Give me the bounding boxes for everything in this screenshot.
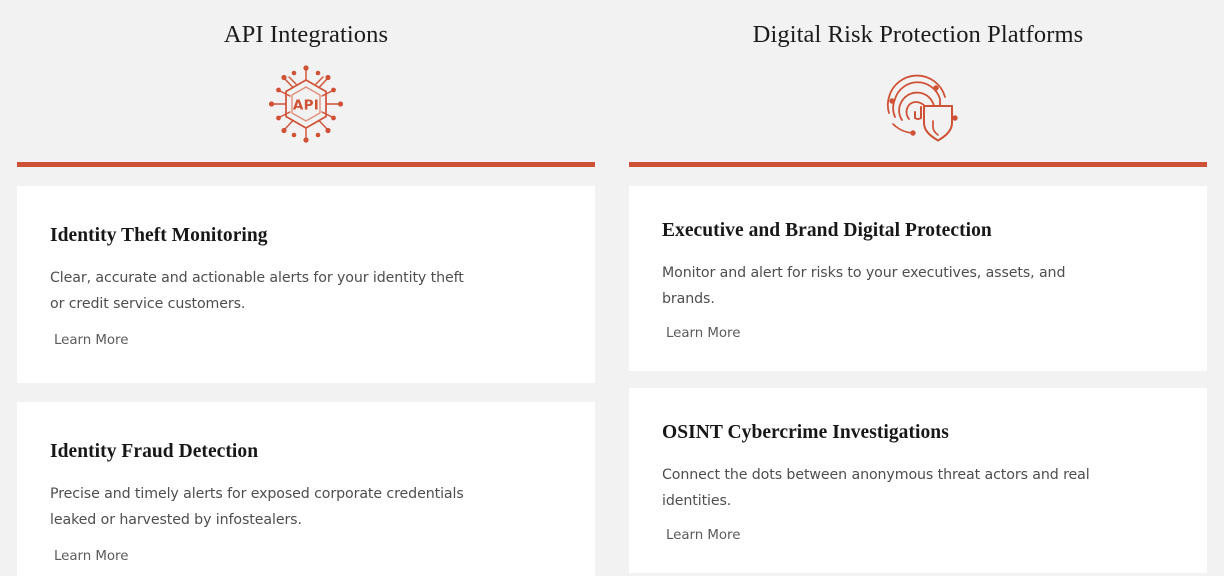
card-list-digital-risk-protection: Executive and Brand Digital Protection M… — [612, 186, 1224, 573]
column-header-api-integrations: API Integrations — [0, 0, 612, 145]
card-list-api-integrations: Identity Theft Monitoring Clear, accurat… — [0, 186, 612, 576]
service-card[interactable]: Identity Fraud Detection Precise and tim… — [17, 402, 595, 576]
column-accent-rule-wrap — [612, 162, 1224, 167]
card-description: Precise and timely alerts for exposed co… — [50, 481, 470, 534]
api-hexagon-network-icon: API — [0, 63, 612, 145]
column-title: Digital Risk Protection Platforms — [612, 20, 1224, 49]
service-card[interactable]: OSINT Cybercrime Investigations Connect … — [629, 388, 1207, 573]
learn-more-link[interactable]: Learn More — [54, 549, 128, 564]
card-description: Monitor and alert for risks to your exec… — [662, 260, 1112, 313]
service-card[interactable]: Identity Theft Monitoring Clear, accurat… — [17, 186, 595, 383]
fingerprint-shield-icon — [612, 63, 1224, 145]
accent-rule — [629, 162, 1207, 167]
service-card[interactable]: Executive and Brand Digital Protection M… — [629, 186, 1207, 371]
card-title: Identity Fraud Detection — [50, 440, 562, 464]
accent-rule — [17, 162, 595, 167]
column-accent-rule-wrap — [0, 162, 612, 167]
svg-text:API: API — [293, 98, 319, 114]
card-title: Identity Theft Monitoring — [50, 224, 562, 248]
services-columns: API Integrations — [0, 0, 1224, 576]
learn-more-link[interactable]: Learn More — [666, 528, 740, 543]
services-page: API Integrations — [0, 0, 1224, 576]
card-description: Connect the dots between anonymous threa… — [662, 462, 1112, 515]
card-title: OSINT Cybercrime Investigations — [662, 421, 1174, 445]
card-description: Clear, accurate and actionable alerts fo… — [50, 265, 470, 318]
column-digital-risk-protection: Digital Risk Protection Platforms — [612, 0, 1224, 576]
card-title: Executive and Brand Digital Protection — [662, 219, 1174, 243]
learn-more-link[interactable]: Learn More — [666, 326, 740, 341]
column-title: API Integrations — [0, 20, 612, 49]
learn-more-link[interactable]: Learn More — [54, 333, 128, 348]
column-header-digital-risk-protection: Digital Risk Protection Platforms — [612, 0, 1224, 145]
column-api-integrations: API Integrations — [0, 0, 612, 576]
